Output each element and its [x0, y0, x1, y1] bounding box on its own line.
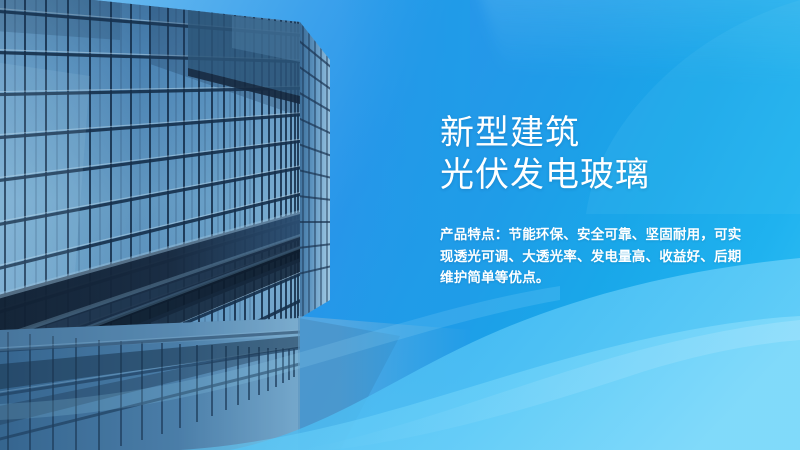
headline-block: 新型建筑光伏发电玻璃 产品特点：节能环保、安全可靠、坚固耐用，可实现透光可调、大… — [440, 112, 770, 289]
photo-right-fade — [0, 0, 470, 450]
building-photograph — [0, 0, 470, 450]
headline-line-2: 光伏发电玻璃 — [440, 154, 770, 196]
page-title: 新型建筑光伏发电玻璃 — [440, 112, 770, 196]
headline-line-1: 新型建筑 — [440, 114, 580, 152]
product-features-description: 产品特点：节能环保、安全可靠、坚固耐用，可实现透光可调、大透光率、发电量高、收益… — [440, 196, 752, 289]
promo-banner: 新型建筑光伏发电玻璃 产品特点：节能环保、安全可靠、坚固耐用，可实现透光可调、大… — [0, 0, 800, 450]
skyscraper-illustration — [0, 0, 470, 450]
